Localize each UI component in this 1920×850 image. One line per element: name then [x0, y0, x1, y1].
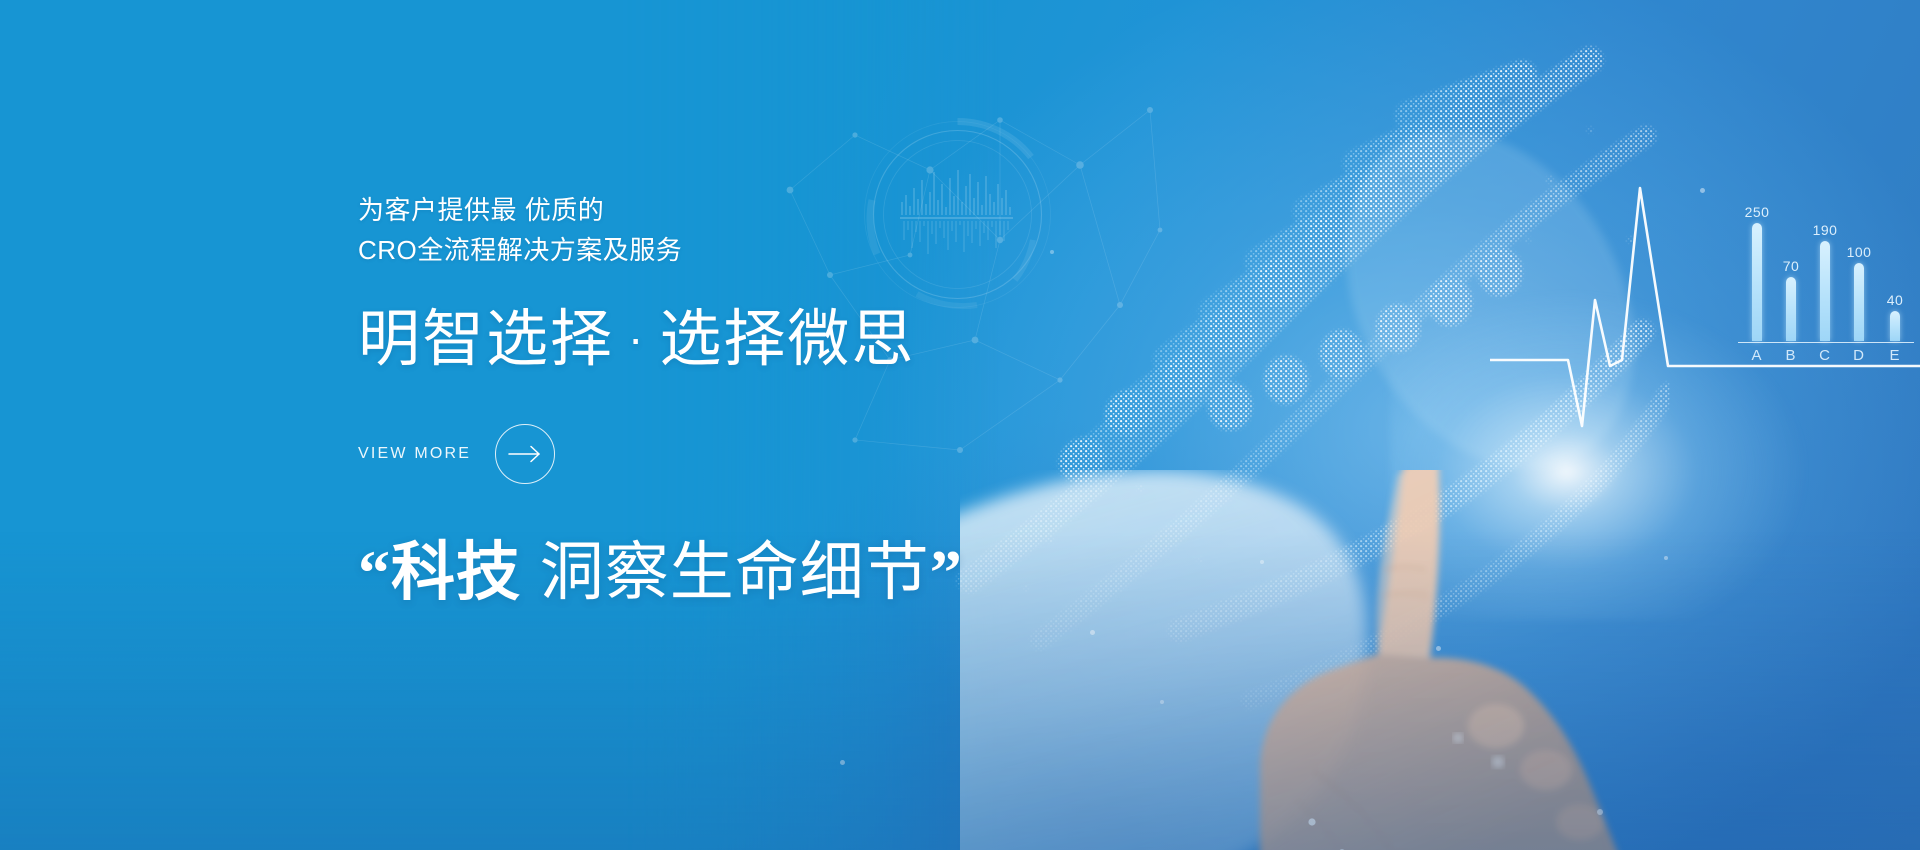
spark-dot — [1700, 188, 1705, 193]
quote-open-mark: “ — [358, 537, 391, 608]
arrow-right-icon[interactable] — [495, 424, 555, 484]
hero-subtitle-line1: 为客户提供最 优质的 — [358, 195, 604, 225]
hero-subtitle: 为客户提供最 优质的 CRO全流程解决方案及服务 — [358, 190, 1118, 270]
hero-headline-separator: · — [614, 312, 659, 364]
chart-axis-line — [1738, 342, 1914, 344]
chart-category: B — [1781, 347, 1801, 364]
chart-bar — [1854, 263, 1864, 341]
chart-bar-value: 100 — [1847, 244, 1872, 260]
chart-bars: 250 70 190 100 40 — [1738, 209, 1914, 341]
hero-quote: “科技 洞察生命细节” — [358, 534, 1118, 611]
view-more-label: VIEW MORE — [358, 445, 471, 463]
hero-subtitle-line2: CRO全流程解决方案及服务 — [358, 230, 1118, 270]
chart-category: C — [1815, 347, 1835, 364]
hero-banner: 250 70 190 100 40 A B C — [0, 0, 1920, 850]
chart-bar-value: 190 — [1813, 222, 1838, 238]
chart-bar — [1820, 241, 1830, 341]
quote-light-text: 洞察生命细节 — [521, 536, 930, 608]
quote-close-mark: ” — [930, 537, 963, 608]
chart-bar — [1786, 277, 1796, 341]
chart-bar — [1890, 311, 1900, 341]
chart-bar-value: 40 — [1887, 292, 1904, 308]
hero-copy: 为客户提供最 优质的 CRO全流程解决方案及服务 明智选择·选择微思 VIEW … — [358, 190, 1118, 611]
chart-bar-item: 40 — [1890, 311, 1900, 341]
chart-bar-value: 250 — [1745, 204, 1770, 220]
view-more-button[interactable]: VIEW MORE — [358, 424, 558, 484]
chart-bar-item: 100 — [1854, 263, 1864, 341]
hero-headline-left: 明智选择 — [358, 305, 614, 374]
chart-bar-item: 190 — [1820, 241, 1830, 341]
chart-category: A — [1747, 347, 1767, 364]
chart-bar-item: 250 — [1752, 223, 1762, 341]
chart-category: D — [1849, 347, 1869, 364]
chart-bar-value: 70 — [1783, 258, 1800, 274]
chart-category-labels: A B C D E — [1738, 347, 1914, 369]
chart-bar-item: 70 — [1786, 277, 1796, 341]
hero-headline-right: 选择微思 — [659, 305, 915, 374]
quote-bold-text: 科技 — [391, 536, 521, 608]
chart-bar — [1752, 223, 1762, 341]
chart-category: E — [1885, 347, 1905, 364]
bar-chart: 250 70 190 100 40 A B C — [1738, 185, 1918, 375]
hero-headline: 明智选择·选择微思 — [358, 302, 1118, 376]
